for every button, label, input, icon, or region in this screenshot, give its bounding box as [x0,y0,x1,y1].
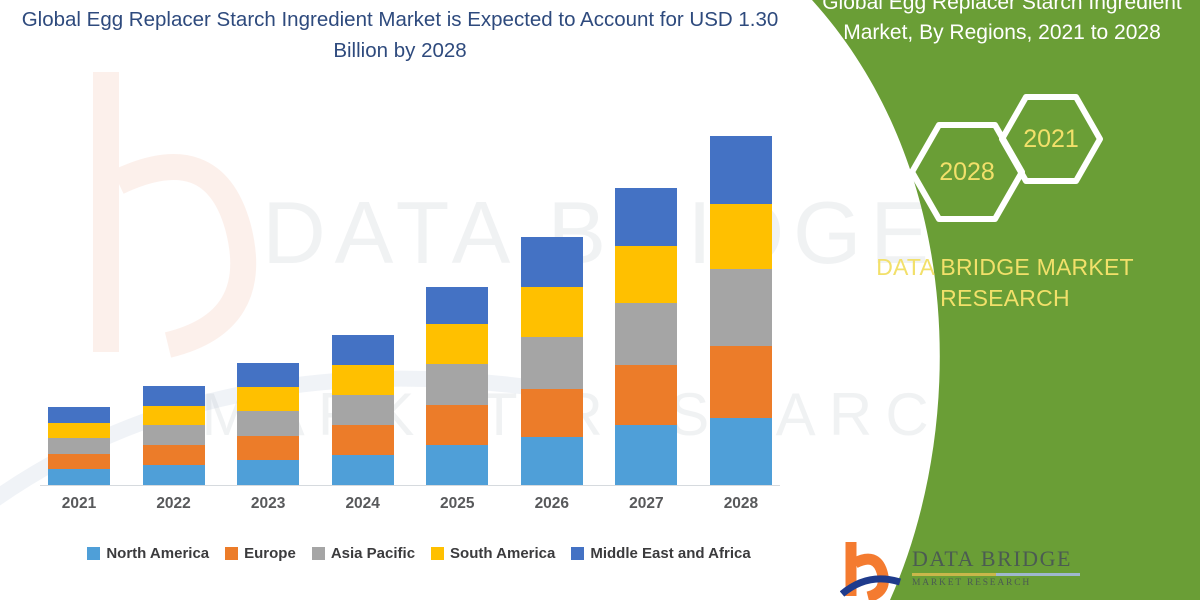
logo-rules [912,573,1080,576]
bar-segment[interactable] [143,445,205,465]
bar-segment[interactable] [710,204,772,269]
data-bridge-logo: DATA BRIDGE MARKET RESEARCH [840,538,1190,600]
x-axis-line [40,485,780,486]
legend-swatch-icon [225,547,238,560]
bar-segment[interactable] [143,425,205,445]
bar-segment[interactable] [332,425,394,455]
bar-segment[interactable] [143,386,205,406]
bar-segment[interactable] [521,237,583,287]
bar-segment[interactable] [48,469,110,485]
bar-column[interactable] [48,407,110,485]
logo-wordmark: DATA BRIDGE MARKET RESEARCH [912,538,1080,588]
x-axis-label: 2028 [710,495,772,525]
bar-segment[interactable] [237,363,299,387]
bar-segment[interactable] [426,405,488,445]
bar-segment[interactable] [237,436,299,460]
x-axis-label: 2023 [237,495,299,525]
bar-segment[interactable] [710,346,772,418]
legend-item[interactable]: Middle East and Africa [571,545,750,562]
x-axis-label: 2025 [426,495,488,525]
x-axis-label: 2026 [521,495,583,525]
legend-label: Europe [244,545,296,562]
bar-segment[interactable] [237,460,299,485]
logo-name: DATA BRIDGE [912,546,1080,572]
x-axis-tick-labels: 20212022202320242025202620272028 [40,495,780,525]
bar-column[interactable] [426,287,488,485]
legend-label: Asia Pacific [331,545,415,562]
legend-swatch-icon [571,547,584,560]
logo-b-icon [840,538,902,600]
hexagon-year-badges: 2028 2021 [888,92,1158,222]
bar-segment[interactable] [615,246,677,303]
hexagon-end-year-label: 2021 [1023,125,1079,154]
legend-label: Middle East and Africa [590,545,750,562]
bar-segment[interactable] [615,188,677,246]
chart-legend: North AmericaEuropeAsia PacificSouth Ame… [24,538,814,568]
bar-segment[interactable] [48,454,110,470]
bar-column[interactable] [332,335,394,485]
bar-segment[interactable] [143,465,205,485]
logo-mark-icon [840,538,902,600]
bar-segment[interactable] [426,364,488,404]
bar-segment[interactable] [426,445,488,485]
legend-label: South America [450,545,555,562]
chart-title: Global Egg Replacer Starch Ingredient Ma… [20,4,780,66]
bar-column[interactable] [143,386,205,485]
bar-segment[interactable] [615,365,677,425]
bar-segment[interactable] [521,389,583,437]
x-axis-label: 2021 [48,495,110,525]
bar-segment[interactable] [426,287,488,325]
bar-segment[interactable] [521,437,583,485]
hexagon-badge-end-year: 2021 [998,92,1104,186]
bar-segment[interactable] [710,136,772,204]
bar-segment[interactable] [48,438,110,454]
bar-segment[interactable] [48,423,110,439]
hexagon-start-year-label: 2028 [939,158,995,187]
bar-segment[interactable] [332,395,394,425]
bar-segment[interactable] [332,455,394,485]
bar-column[interactable] [615,188,677,485]
bar-segment[interactable] [710,418,772,485]
infographic-canvas: DATA BRIDGE MARKET RESEARCH Global Egg R… [0,0,1200,600]
legend-item[interactable]: Asia Pacific [312,545,415,562]
bar-segment[interactable] [615,303,677,365]
logo-tagline: MARKET RESEARCH [912,578,1080,588]
legend-label: North America [106,545,209,562]
bar-segment[interactable] [332,365,394,395]
legend-swatch-icon [312,547,325,560]
stacked-bar-chart [40,70,780,485]
bar-column[interactable] [710,136,772,485]
legend-swatch-icon [431,547,444,560]
panel-title: Global Egg Replacer Starch Ingredient Ma… [822,0,1182,48]
bar-segment[interactable] [710,269,772,346]
bar-segment[interactable] [48,407,110,423]
bar-segment[interactable] [237,411,299,436]
legend-item[interactable]: North America [87,545,209,562]
x-axis-label: 2024 [332,495,394,525]
bar-segment[interactable] [332,335,394,365]
legend-item[interactable]: Europe [225,545,296,562]
bar-column[interactable] [521,237,583,485]
bar-segment[interactable] [615,425,677,485]
bar-segment[interactable] [237,387,299,411]
bar-column[interactable] [237,363,299,485]
green-side-panel: Global Egg Replacer Starch Ingredient Ma… [770,0,1200,600]
bar-segment[interactable] [143,406,205,426]
x-axis-label: 2027 [615,495,677,525]
bar-segment[interactable] [426,324,488,364]
legend-swatch-icon [87,547,100,560]
brand-name: DATA BRIDGE MARKET RESEARCH [830,252,1180,314]
x-axis-label: 2022 [143,495,205,525]
bar-segment[interactable] [521,337,583,389]
legend-item[interactable]: South America [431,545,555,562]
bar-segment[interactable] [521,287,583,337]
